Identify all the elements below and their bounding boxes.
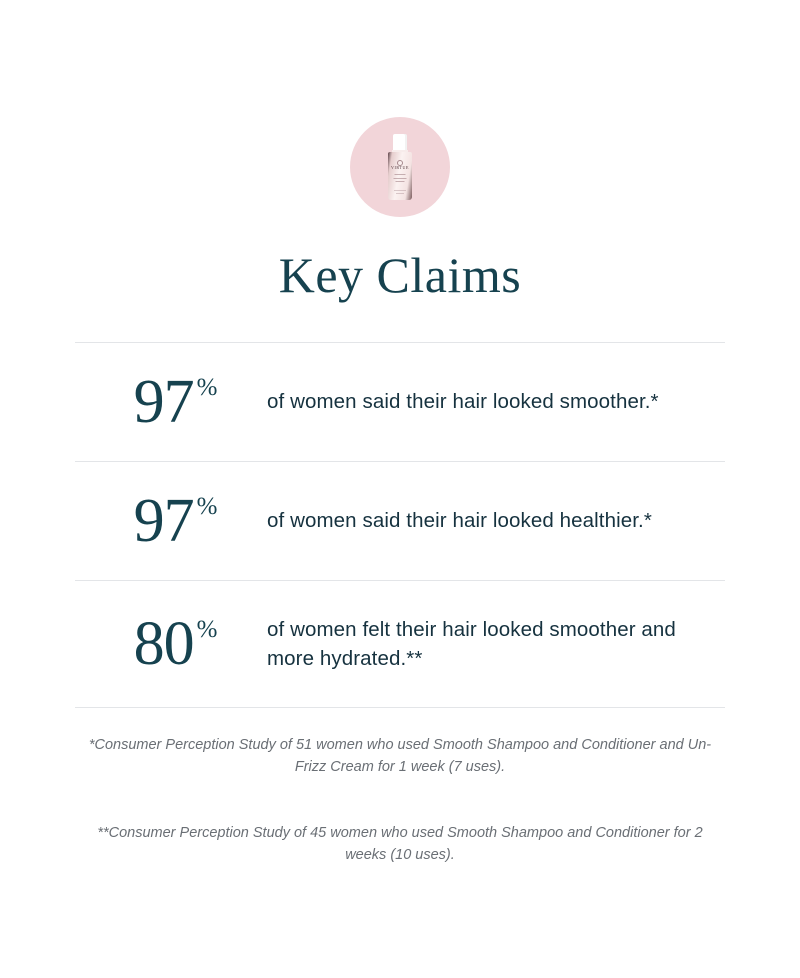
claims-list: 97% of women said their hair looked smoo… [75, 300, 725, 708]
claim-row: 80% of women felt their hair looked smoo… [75, 581, 725, 707]
claim-stat: 97% [75, 490, 260, 552]
footnote-single-asterisk: *Consumer Perception Study of 51 women w… [75, 734, 725, 778]
claim-description: of women said their hair looked healthie… [260, 506, 725, 535]
claim-unit: % [197, 494, 218, 519]
bottle-label-line [394, 178, 407, 179]
claim-row: 97% of women said their hair looked smoo… [75, 343, 725, 461]
bottle-body-icon: VIRTUE [388, 152, 412, 200]
key-claims-page: VIRTUE Key Claims 97% of women said thei… [0, 0, 800, 978]
claim-description: of women said their hair looked smoother… [260, 387, 725, 416]
claim-value: 97 [134, 371, 194, 433]
bottle-brand-label: VIRTUE [388, 165, 412, 170]
bottle-label-line [395, 174, 406, 175]
footnote-double-asterisk: **Consumer Perception Study of 45 women … [75, 822, 725, 866]
claim-unit: % [197, 375, 218, 400]
claim-value: 80 [134, 613, 194, 675]
page-title: Key Claims [0, 217, 800, 300]
claim-value: 97 [134, 490, 194, 552]
bottle-label-line [396, 193, 404, 194]
product-bottle-icon: VIRTUE [387, 134, 413, 200]
footnotes: *Consumer Perception Study of 51 women w… [75, 708, 725, 866]
claim-unit: % [197, 617, 218, 642]
product-badge: VIRTUE [0, 0, 800, 217]
claim-stat: 80% [75, 613, 260, 675]
badge-circle: VIRTUE [350, 117, 450, 217]
bottle-label-line [394, 190, 406, 191]
claim-row: 97% of women said their hair looked heal… [75, 462, 725, 580]
claim-description: of women felt their hair looked smoother… [260, 615, 725, 673]
claim-stat: 97% [75, 371, 260, 433]
bottle-cap-icon [393, 134, 407, 151]
bottle-label-line [396, 181, 405, 182]
